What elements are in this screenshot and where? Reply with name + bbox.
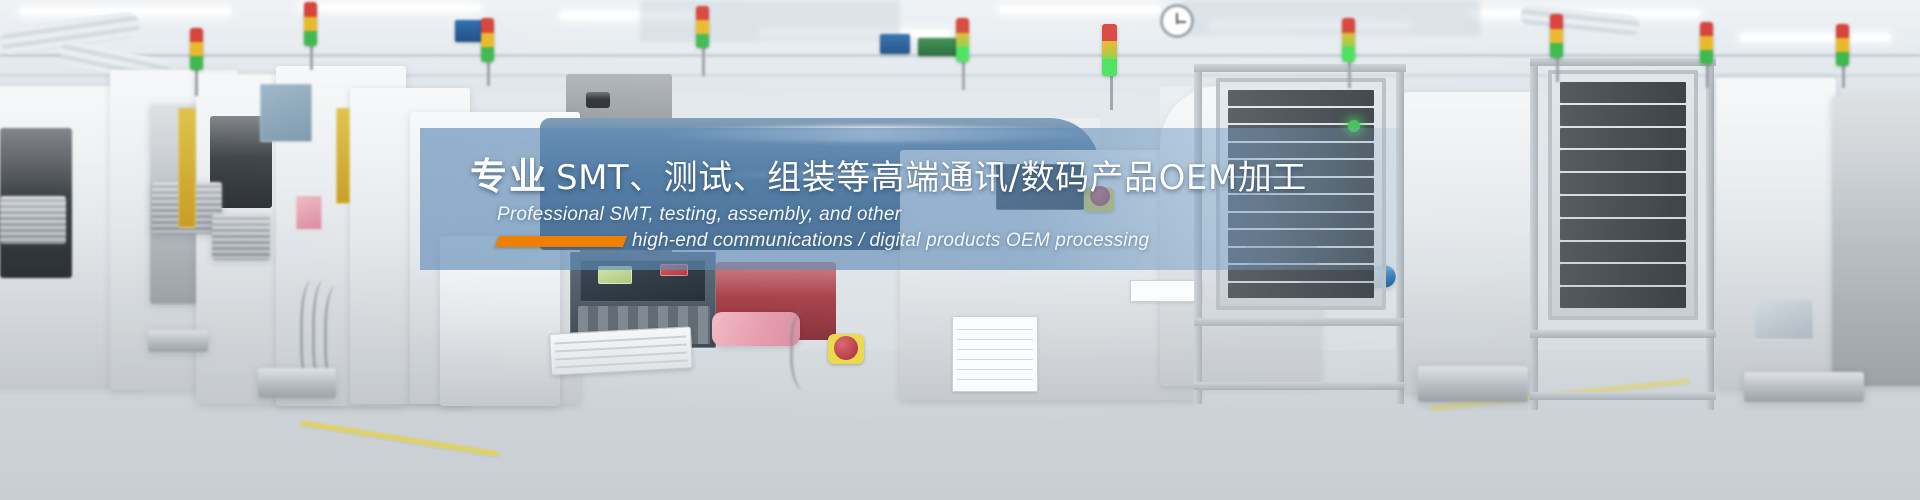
tower-pole — [1110, 70, 1113, 110]
cable — [790, 310, 824, 390]
step-stool — [148, 330, 208, 352]
signal-tower-3 — [481, 18, 494, 62]
tape-feeders — [0, 196, 66, 244]
banner-headline: 专业SMT、测试、组装等高端通讯/数码产品OEM加工 — [470, 155, 1307, 200]
signal-tower-7 — [1342, 18, 1355, 62]
rack-frame-rail — [1194, 318, 1406, 326]
hero-banner: 专业SMT、测试、组装等高端通讯/数码产品OEM加工 Professional … — [0, 0, 1920, 500]
equipment-cabinet — [1404, 92, 1532, 392]
wall-clock — [1160, 4, 1194, 38]
headline-keyword: 专业 — [470, 155, 556, 198]
signal-tower-8 — [1550, 14, 1563, 58]
warning-strip — [336, 108, 350, 204]
machine-panel — [1754, 300, 1814, 340]
equipment-cabinet — [1832, 96, 1920, 386]
process-placard — [952, 316, 1038, 392]
rack-frame-rail — [1194, 382, 1406, 390]
emergency-stop-button — [834, 336, 858, 360]
rack-slots — [1560, 82, 1686, 308]
ceiling-light — [1740, 34, 1890, 41]
signal-tower-9 — [1700, 22, 1713, 64]
indicator-panel — [296, 196, 322, 230]
department-sign — [880, 34, 910, 54]
rack-frame-post — [1530, 58, 1538, 410]
equipment-cabinet — [1716, 78, 1836, 388]
orange-accent-bar — [495, 236, 627, 247]
headline-rest: SMT、测试、组装等高端通讯/数码产品OEM加工 — [556, 158, 1307, 198]
pink-wrapped-part — [712, 312, 800, 346]
rack-frame-rail — [1194, 64, 1406, 72]
step-stool — [258, 368, 336, 398]
ceiling-panel — [640, 0, 900, 42]
machine-label — [1130, 280, 1202, 302]
signal-tower-2 — [304, 2, 317, 46]
pallet — [1418, 366, 1528, 402]
signal-tower-5 — [956, 18, 969, 62]
signal-tower-10 — [1836, 24, 1849, 66]
ceiling-light — [1000, 6, 1160, 13]
ceiling-panel — [1180, 0, 1480, 36]
signal-tower-4 — [696, 6, 709, 48]
keyboard — [549, 326, 693, 375]
rack-frame-rail — [1530, 330, 1716, 338]
storage-rack — [1548, 70, 1698, 320]
pallet — [1744, 372, 1864, 402]
ceiling-light — [300, 4, 480, 11]
tape-feeders — [212, 214, 270, 260]
machine-touchscreen — [260, 84, 312, 142]
rack-frame-post — [1706, 58, 1714, 410]
signal-tower-6 — [1102, 24, 1117, 76]
banner-subtitle-line1: Professional SMT, testing, assembly, and… — [497, 202, 901, 228]
rack-frame-rail — [1530, 392, 1716, 400]
warning-strip — [178, 108, 196, 228]
cabinet-vent — [586, 92, 610, 108]
signal-tower-1 — [190, 28, 203, 70]
banner-subtitle-line2: high-end communications / digital produc… — [632, 228, 1149, 254]
